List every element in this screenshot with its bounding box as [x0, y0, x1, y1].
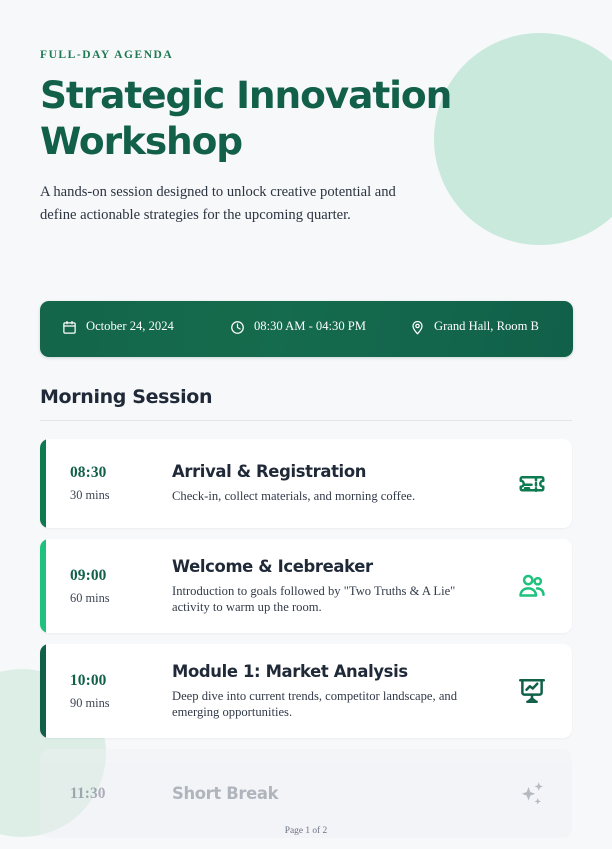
page-footer: Page 1 of 2 — [0, 826, 612, 836]
page-title: Strategic Innovation Workshop — [40, 72, 510, 164]
eyebrow-label: FULL-DAY AGENDA — [40, 49, 572, 61]
page-number-label: Page 1 of 2 — [285, 826, 327, 836]
page-subtitle: A hands-on session designed to unlock cr… — [40, 181, 420, 226]
agenda-page: FULL-DAY AGENDA Strategic Innovation Wor… — [0, 49, 612, 841]
